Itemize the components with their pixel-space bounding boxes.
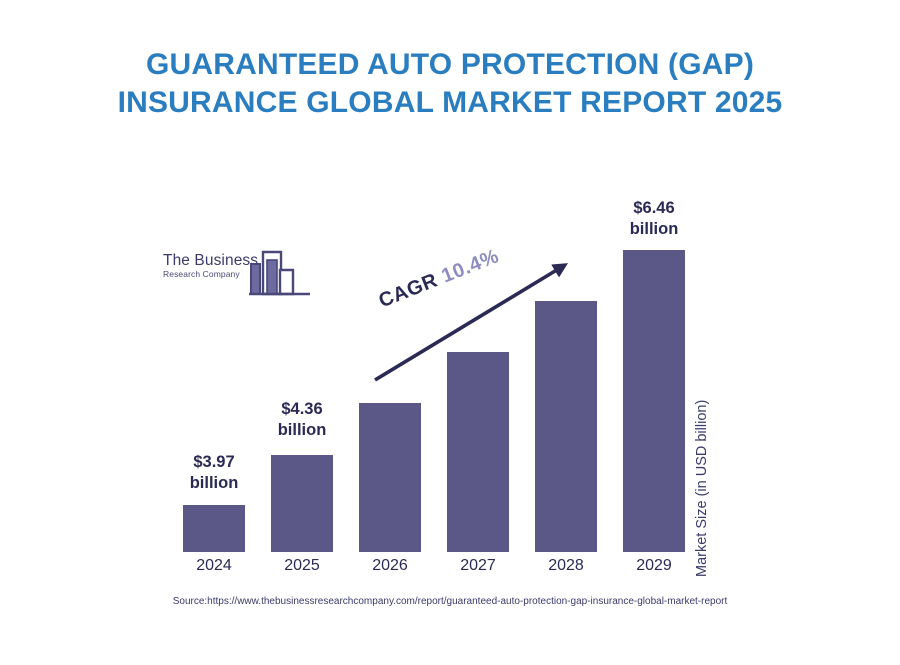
bar-value-2025-unit: billion bbox=[252, 420, 352, 441]
x-axis-tick-2029: 2029 bbox=[623, 556, 685, 576]
x-axis-tick-2025: 2025 bbox=[271, 556, 333, 576]
bar-value-2024: $3.97 billion bbox=[164, 452, 264, 494]
bar-value-2025: $4.36 billion bbox=[252, 399, 352, 441]
bar-2029 bbox=[623, 250, 685, 552]
bar-value-2029-unit: billion bbox=[604, 219, 704, 240]
y-axis-title: Market Size (in USD billion) bbox=[694, 97, 710, 337]
bar-2026 bbox=[359, 403, 421, 552]
source-citation: Source:https://www.thebusinessresearchco… bbox=[0, 595, 900, 609]
bar-value-2029: $6.46 billion bbox=[604, 198, 704, 240]
bar-value-2029-amount: $6.46 bbox=[604, 198, 704, 219]
x-axis-tick-2024: 2024 bbox=[183, 556, 245, 576]
x-axis-tick-2027: 2027 bbox=[447, 556, 509, 576]
cagr-label: CAGR 10.4% bbox=[376, 245, 503, 313]
report-infographic: GUARANTEED AUTO PROTECTION (GAP) INSURAN… bbox=[0, 0, 900, 665]
bar-2024 bbox=[183, 505, 245, 552]
x-axis-tick-2026: 2026 bbox=[359, 556, 421, 576]
y-axis-title-text: Market Size (in USD billion) bbox=[694, 337, 710, 577]
x-axis-tick-2028: 2028 bbox=[535, 556, 597, 576]
bar-2028 bbox=[535, 301, 597, 552]
bar-value-2024-unit: billion bbox=[164, 473, 264, 494]
bar-value-2025-amount: $4.36 bbox=[252, 399, 352, 420]
bar-value-2024-amount: $3.97 bbox=[164, 452, 264, 473]
cagr-label-rate: 10.4% bbox=[439, 245, 503, 287]
bar-chart: $3.97 billion $4.36 billion $6.46 billio… bbox=[0, 0, 900, 665]
bar-2025 bbox=[271, 455, 333, 552]
bar-2027 bbox=[447, 352, 509, 552]
cagr-label-word: CAGR bbox=[376, 269, 441, 312]
